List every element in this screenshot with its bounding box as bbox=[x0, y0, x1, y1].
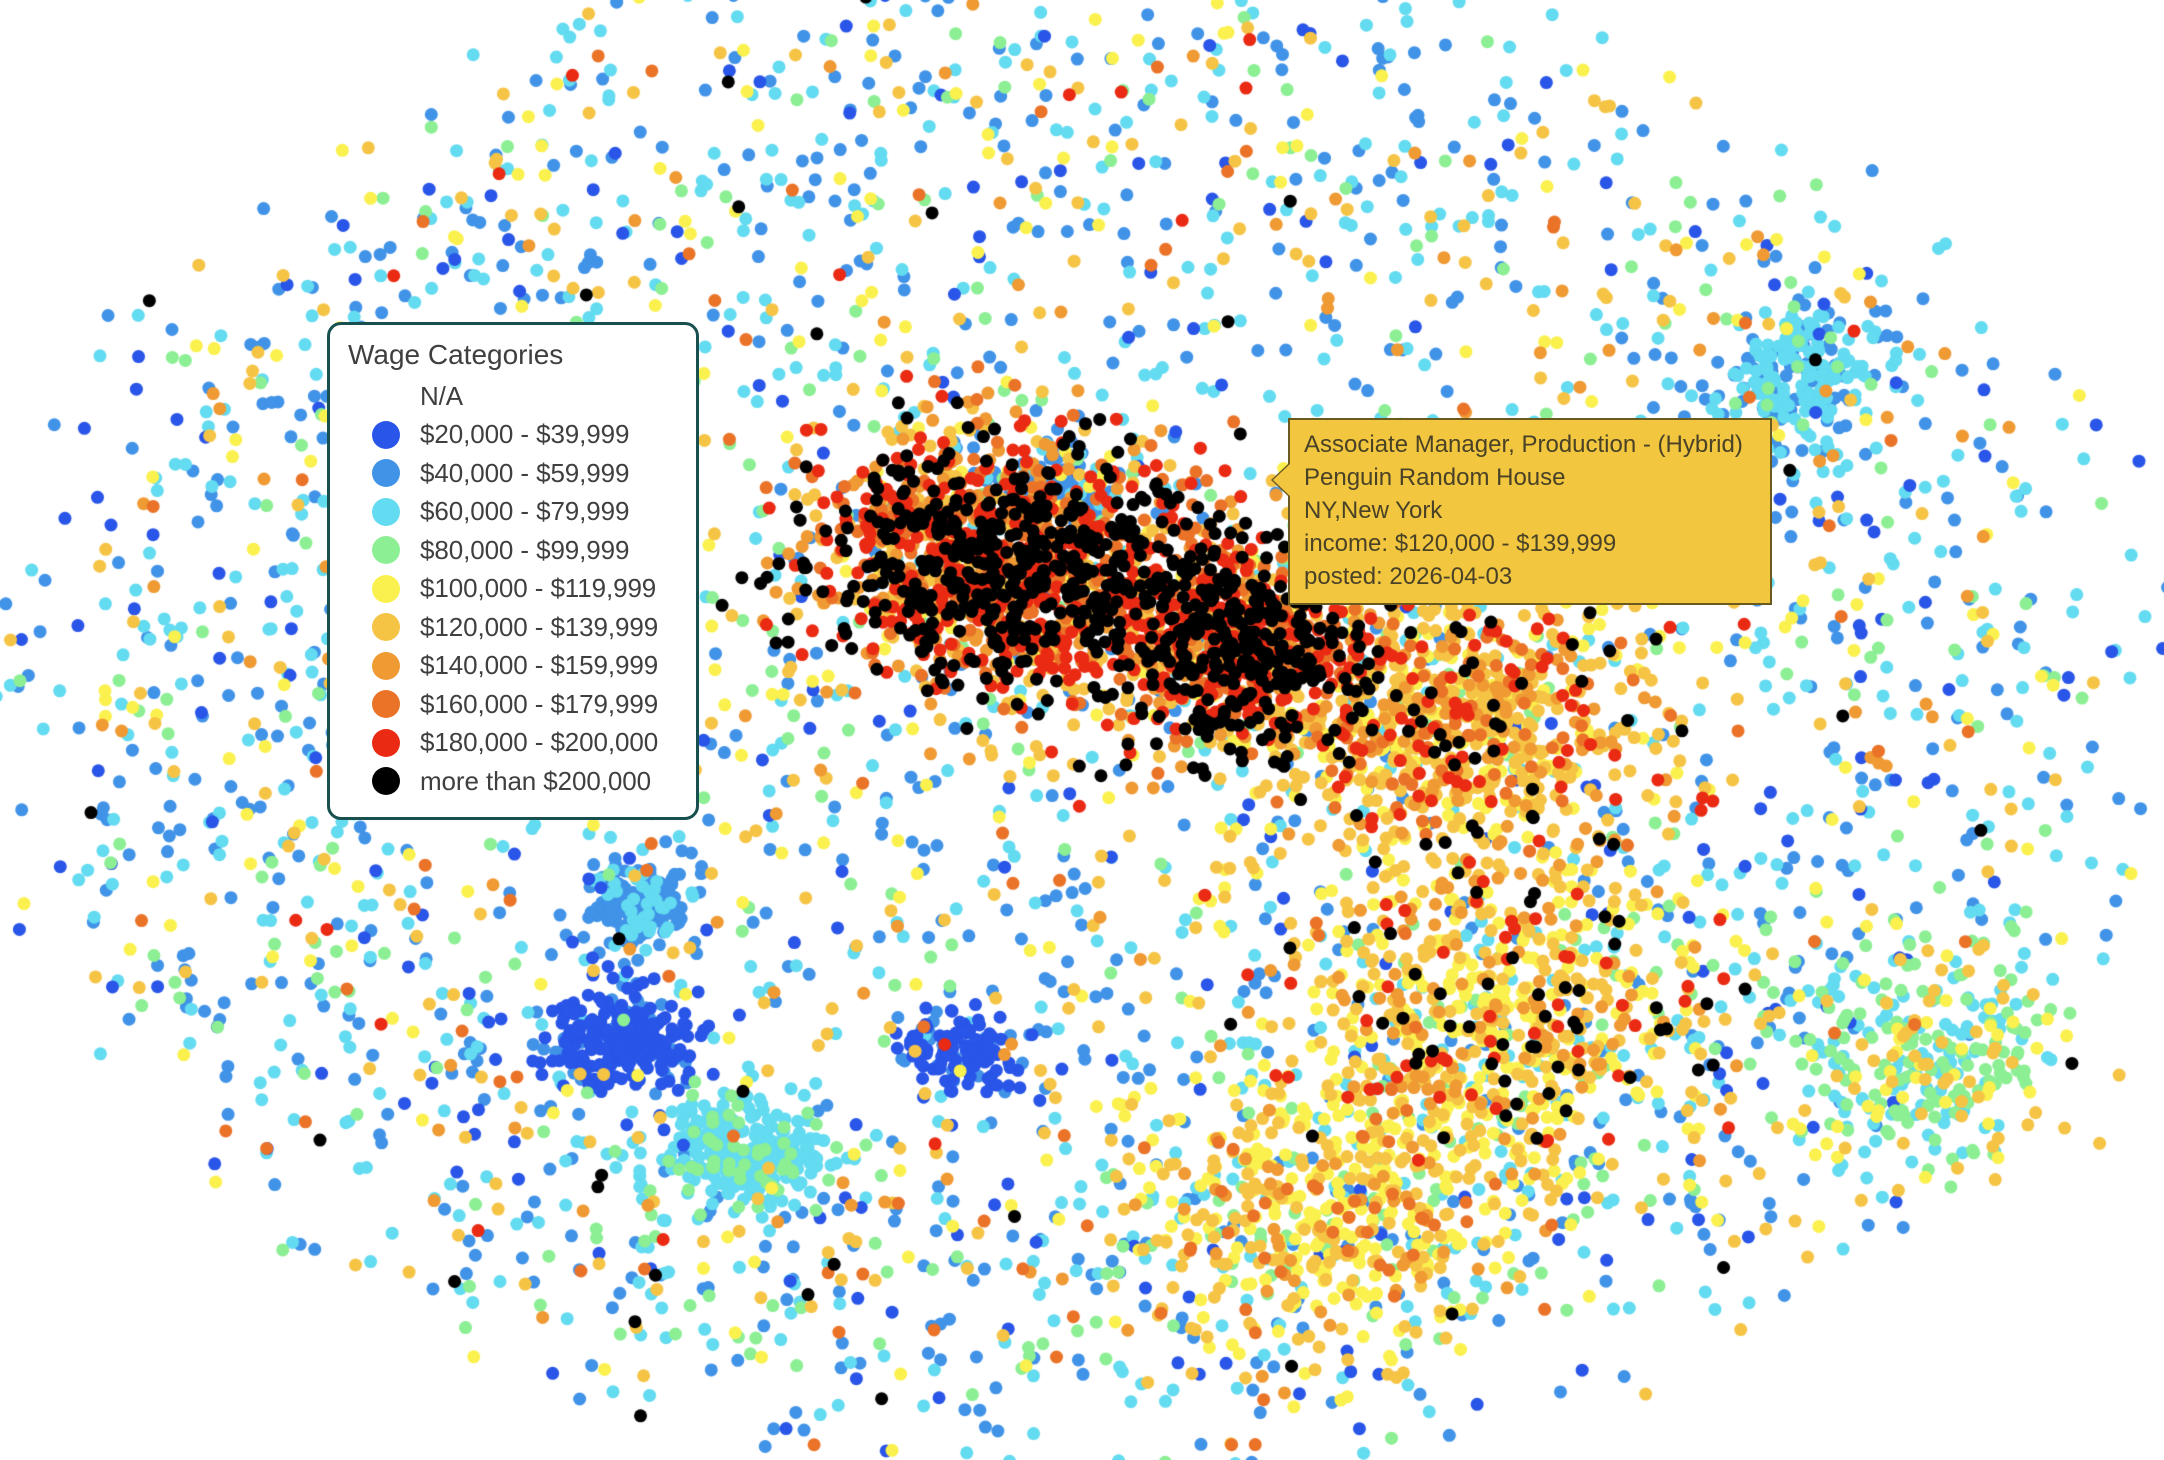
legend-items-list: N/A$20,000 - $39,999$40,000 - $59,999$60… bbox=[346, 377, 680, 801]
legend-color-swatch bbox=[372, 459, 400, 487]
legend-color-swatch bbox=[372, 729, 400, 757]
tooltip-income: income: $120,000 - $139,999 bbox=[1304, 527, 1758, 560]
legend-color-swatch bbox=[372, 536, 400, 564]
tooltip-arrow-icon bbox=[1273, 464, 1290, 496]
legend-title: Wage Categories bbox=[348, 339, 680, 371]
tooltip-job-title: Associate Manager, Production - (Hybrid) bbox=[1304, 428, 1758, 461]
tooltip-posted: posted: 2026-04-03 bbox=[1304, 560, 1758, 593]
legend-item-label: $180,000 - $200,000 bbox=[420, 727, 658, 758]
legend-item[interactable]: $100,000 - $119,999 bbox=[346, 570, 680, 609]
legend-item-label: $120,000 - $139,999 bbox=[420, 612, 658, 643]
legend-color-swatch bbox=[372, 575, 400, 603]
legend-color-swatch bbox=[372, 652, 400, 680]
legend-item-label: $40,000 - $59,999 bbox=[420, 458, 629, 489]
scatter-plot-figure: Wage Categories N/A$20,000 - $39,999$40,… bbox=[0, 0, 2164, 1460]
legend-item-label: more than $200,000 bbox=[420, 766, 651, 797]
legend-item-label: $60,000 - $79,999 bbox=[420, 496, 629, 527]
legend-item[interactable]: $40,000 - $59,999 bbox=[346, 454, 680, 493]
legend-item[interactable]: $120,000 - $139,999 bbox=[346, 608, 680, 647]
legend-color-swatch bbox=[372, 690, 400, 718]
legend-item[interactable]: more than $200,000 bbox=[346, 762, 680, 801]
legend-item-label: $160,000 - $179,999 bbox=[420, 689, 658, 720]
wage-categories-legend: Wage Categories N/A$20,000 - $39,999$40,… bbox=[327, 322, 699, 820]
legend-color-swatch bbox=[372, 613, 400, 641]
legend-item-label: $100,000 - $119,999 bbox=[420, 573, 656, 604]
tooltip-company: Penguin Random House bbox=[1304, 461, 1758, 494]
legend-item-label: N/A bbox=[420, 381, 463, 412]
legend-color-swatch bbox=[372, 382, 400, 410]
legend-item-label: $140,000 - $159,999 bbox=[420, 650, 658, 681]
legend-item-label: $80,000 - $99,999 bbox=[420, 535, 629, 566]
legend-item[interactable]: $180,000 - $200,000 bbox=[346, 724, 680, 763]
legend-color-swatch bbox=[372, 498, 400, 526]
legend-item-label: $20,000 - $39,999 bbox=[420, 419, 629, 450]
tooltip-location: NY,New York bbox=[1304, 494, 1758, 527]
legend-item[interactable]: $60,000 - $79,999 bbox=[346, 493, 680, 532]
legend-item[interactable]: $140,000 - $159,999 bbox=[346, 647, 680, 686]
legend-item[interactable]: $160,000 - $179,999 bbox=[346, 685, 680, 724]
legend-item[interactable]: $20,000 - $39,999 bbox=[346, 416, 680, 455]
legend-item[interactable]: N/A bbox=[346, 377, 680, 416]
legend-color-swatch bbox=[372, 767, 400, 795]
point-tooltip: Associate Manager, Production - (Hybrid)… bbox=[1288, 418, 1772, 605]
legend-color-swatch bbox=[372, 421, 400, 449]
legend-item[interactable]: $80,000 - $99,999 bbox=[346, 531, 680, 570]
scatter-plot-canvas[interactable] bbox=[0, 0, 2164, 1460]
